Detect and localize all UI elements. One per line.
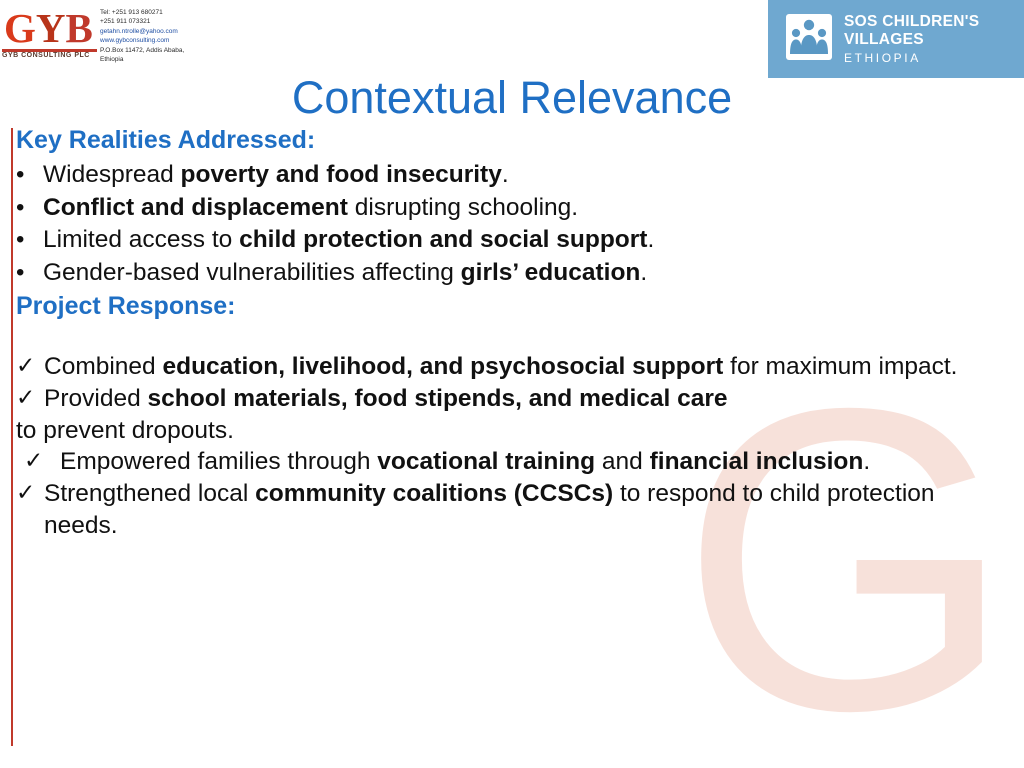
sos-line-2: VILLAGES <box>844 31 979 49</box>
gyb-letter-y: Y <box>36 5 66 51</box>
text-run-bold: girls’ education <box>461 259 641 286</box>
list-item: • Gender-based vulnerabilities affecting… <box>16 257 1012 290</box>
spacer <box>16 325 1012 351</box>
list-item-continuation: to prevent dropouts. <box>16 415 1012 447</box>
text-run: Provided <box>44 385 148 412</box>
gyb-phone-1: Tel: +251 913 680271 <box>100 8 200 17</box>
text-run: . <box>647 226 654 253</box>
text-run: . <box>863 448 870 475</box>
bullet-list-realities: • Widespread poverty and food insecurity… <box>16 159 1012 289</box>
bullet-icon: • <box>16 192 43 224</box>
check-list-response: ✓ Combined education, livelihood, and ps… <box>16 351 1012 542</box>
bullet-icon: • <box>16 257 43 289</box>
text-run: Combined <box>44 353 162 380</box>
bullet-icon: • <box>16 224 43 256</box>
gyb-wordmark: GYB <box>4 8 93 49</box>
gyb-letter-g: G <box>4 5 36 51</box>
list-item-text: Provided school materials, food stipends… <box>44 383 1012 415</box>
gyb-letter-b: B <box>66 5 93 51</box>
list-item: ✓ Provided school materials, food stipen… <box>16 383 1012 415</box>
left-accent-rule <box>11 128 13 746</box>
bullet-icon: • <box>16 159 43 191</box>
text-run-bold: community coalitions (CCSCs) <box>255 480 613 507</box>
text-run: disrupting schooling. <box>348 194 578 221</box>
list-item-text: Limited access to child protection and s… <box>43 224 1012 257</box>
list-item-text: Strengthened local community coalitions … <box>44 478 1012 542</box>
list-item-text: Combined education, livelihood, and psyc… <box>44 351 1012 383</box>
gyb-address: P.O.Box 11472, Addis Ababa, Ethiopia <box>100 46 200 65</box>
list-item-text: Gender-based vulnerabilities affecting g… <box>43 257 1012 290</box>
gyb-email-1: getahn.ntrolle@yahoo.com <box>100 27 200 36</box>
text-run: Empowered families through <box>60 448 377 475</box>
text-run: Limited access to <box>43 226 239 253</box>
text-run-bold: education, livelihood, and psychosocial … <box>162 353 723 380</box>
text-run: for maximum impact. <box>723 353 957 380</box>
heading-key-realities: Key Realities Addressed: <box>16 124 1012 157</box>
text-run: Widespread <box>43 161 181 188</box>
list-item-text: Empowered families through vocational tr… <box>60 446 1012 478</box>
sos-line-3: ETHIOPIA <box>844 49 979 68</box>
text-run-bold: vocational training <box>377 448 595 475</box>
text-run-bold: poverty and food insecurity <box>181 161 502 188</box>
slide-canvas: G GYB GYB CONSULTING PLC Tel: +251 913 6… <box>0 0 1024 768</box>
list-item: ✓ Strengthened local community coalition… <box>16 478 1012 542</box>
gyb-contact-block: Tel: +251 913 680271 +251 911 073321 get… <box>100 8 200 65</box>
slide-body: Key Realities Addressed: • Widespread po… <box>16 124 1012 542</box>
text-run-bold: school materials, food stipends, and med… <box>148 385 728 412</box>
check-icon: ✓ <box>16 383 44 413</box>
heading-project-response: Project Response: <box>16 290 1012 323</box>
gyb-subtitle: GYB CONSULTING PLC <box>2 52 90 59</box>
text-run: Gender-based vulnerabilities affecting <box>43 259 461 286</box>
text-run: . <box>640 259 647 286</box>
page-title: Contextual Relevance <box>0 72 1024 124</box>
check-icon: ✓ <box>16 446 60 476</box>
list-item: • Conflict and displacement disrupting s… <box>16 192 1012 225</box>
check-icon: ✓ <box>16 478 44 508</box>
text-run: and <box>595 448 650 475</box>
check-icon: ✓ <box>16 351 44 381</box>
list-item-text: Conflict and displacement disrupting sch… <box>43 192 1012 225</box>
text-run-bold: child protection and social support <box>239 226 647 253</box>
text-run: . <box>502 161 509 188</box>
sos-line-1: SOS CHILDREN'S <box>844 13 979 31</box>
list-item: ✓ Empowered families through vocational … <box>16 446 1012 478</box>
gyb-email-2: www.gybconsulting.com <box>100 36 200 45</box>
text-run: Strengthened local <box>44 480 255 507</box>
sos-family-icon <box>786 14 832 60</box>
sos-logo: SOS CHILDREN'S VILLAGES ETHIOPIA <box>768 0 1024 78</box>
list-item: • Limited access to child protection and… <box>16 224 1012 257</box>
text-run-bold: Conflict and displacement <box>43 194 348 221</box>
gyb-logo: GYB GYB CONSULTING PLC Tel: +251 913 680… <box>0 2 205 68</box>
sos-wordmark: SOS CHILDREN'S VILLAGES ETHIOPIA <box>844 13 979 68</box>
list-item: ✓ Combined education, livelihood, and ps… <box>16 351 1012 383</box>
list-item-text: Widespread poverty and food insecurity. <box>43 159 1012 192</box>
list-item: • Widespread poverty and food insecurity… <box>16 159 1012 192</box>
text-run-bold: financial inclusion <box>650 448 864 475</box>
gyb-phone-2: +251 911 073321 <box>100 17 200 26</box>
